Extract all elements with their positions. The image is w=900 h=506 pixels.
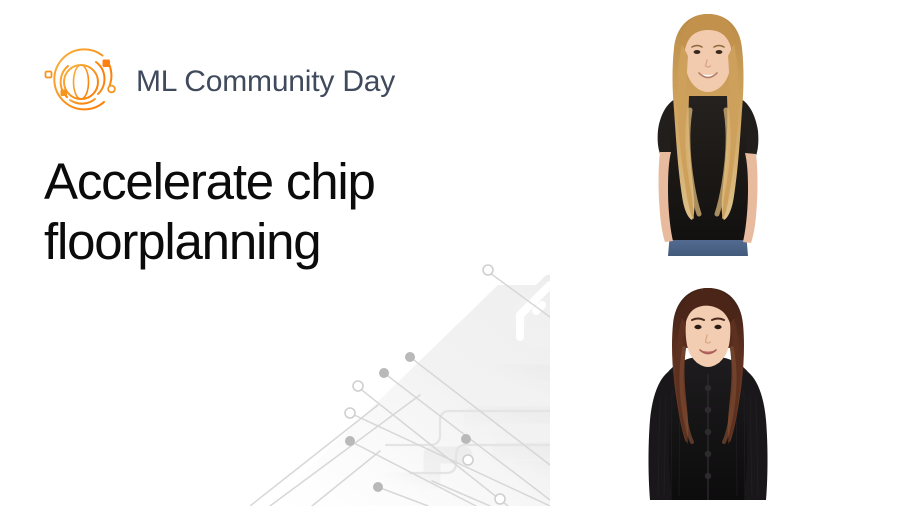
speaker-photo-group: Smiling woman with long wavy blonde hair… [618, 0, 798, 506]
orbit-node-filled-square [103, 60, 111, 68]
brand-lockup: ML Community Day [40, 42, 395, 122]
headline-line-2: floorplanning [44, 212, 474, 272]
page-title: Accelerate chip floorplanning [44, 152, 474, 271]
orbit-node-filled-square-small [61, 90, 68, 97]
brand-wordmark: ML Community Day [136, 67, 395, 97]
speaker-photo-top: Smiling woman with long wavy blonde hair… [618, 0, 798, 256]
headline-line-1: Accelerate chip [44, 152, 474, 212]
circuit-node-filled [345, 352, 471, 492]
orbit-node-hollow-circle [108, 86, 115, 93]
circuit-node-hollow [345, 265, 505, 504]
orbit-node-hollow-square [46, 72, 52, 78]
speaker-photo-bottom: Smiling woman with long dark auburn hair… [618, 278, 798, 506]
presentation-slide: ML Community Day Accelerate chip floorpl… [0, 0, 900, 506]
circuit-board-graphic [250, 255, 550, 506]
globe-orbit-icon [40, 42, 122, 122]
